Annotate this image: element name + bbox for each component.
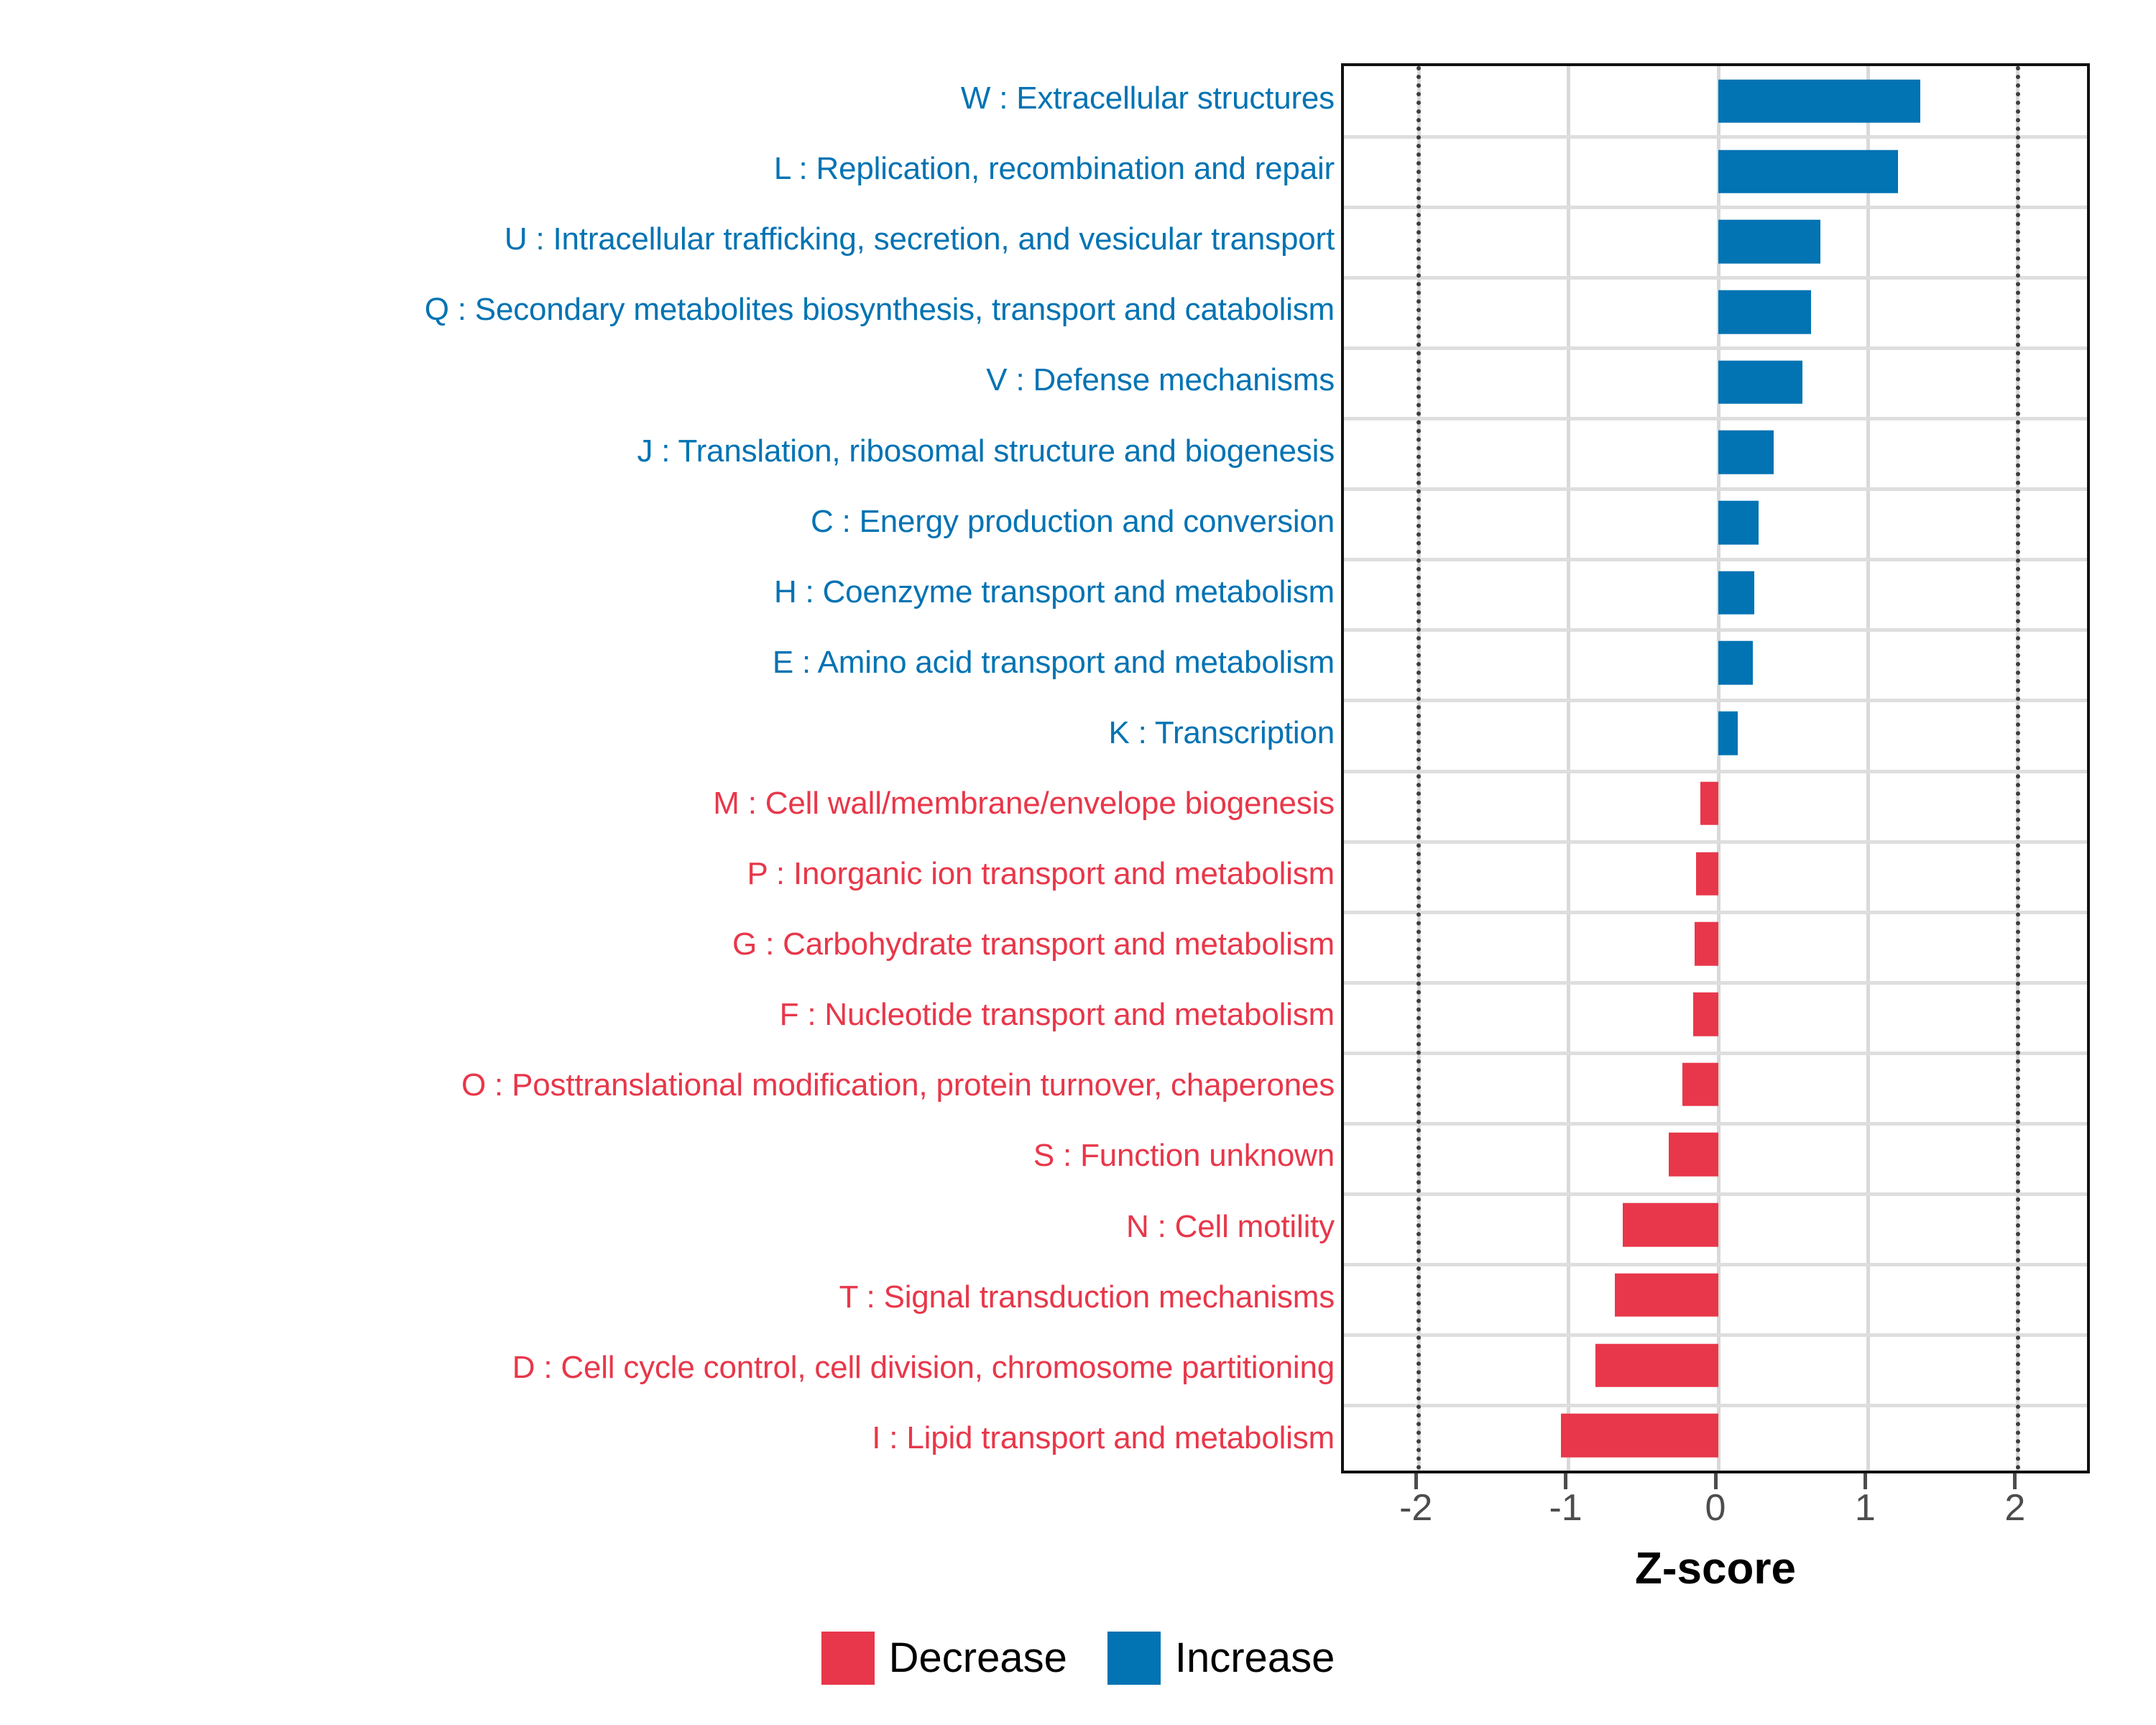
x-tick-label: -1	[1549, 1489, 1582, 1527]
x-tick-label: -2	[1399, 1489, 1432, 1527]
category-label-row: D : Cell cycle control, cell division, c…	[0, 1333, 1340, 1403]
bar-row	[1344, 1400, 2087, 1471]
bar-row	[1344, 768, 2087, 839]
bar-row	[1344, 418, 2087, 488]
category-label-row: W : Extracellular structures	[0, 63, 1340, 134]
category-label-row: P : Inorganic ion transport and metaboli…	[0, 839, 1340, 909]
bar	[1718, 571, 1754, 615]
category-label: L : Replication, recombination and repai…	[774, 153, 1340, 185]
bar	[1595, 1343, 1718, 1387]
x-tick-label: 0	[1705, 1489, 1726, 1527]
bar-row	[1344, 839, 2087, 909]
category-label: S : Function unknown	[1033, 1140, 1340, 1172]
category-label-row: H : Coenzyme transport and metabolism	[0, 557, 1340, 627]
bar	[1623, 1203, 1718, 1247]
bar	[1718, 290, 1811, 334]
category-label: I : Lipid transport and metabolism	[872, 1422, 1340, 1454]
bar	[1718, 431, 1774, 474]
category-label: V : Defense mechanisms	[986, 364, 1340, 396]
bar-row	[1344, 1120, 2087, 1190]
legend-item[interactable]: Increase	[1107, 1632, 1335, 1685]
category-label: W : Extracellular structures	[961, 83, 1340, 114]
x-axis-ticklabels: -2-1012	[1341, 1489, 2090, 1540]
chart-legend: DecreaseIncrease	[0, 1632, 2156, 1685]
bar	[1695, 922, 1718, 966]
x-axis-title: Z-score	[1341, 1547, 2090, 1591]
category-label-row: C : Energy production and conversion	[0, 487, 1340, 557]
bar-row	[1344, 277, 2087, 347]
category-label-row: U : Intracellular trafficking, secretion…	[0, 204, 1340, 275]
legend-item[interactable]: Decrease	[821, 1632, 1067, 1685]
category-label: P : Inorganic ion transport and metaboli…	[747, 858, 1340, 890]
category-label: F : Nucleotide transport and metabolism	[780, 999, 1340, 1031]
category-label: H : Coenzyme transport and metabolism	[774, 576, 1340, 608]
category-label: O : Posttranslational modification, prot…	[461, 1069, 1340, 1101]
category-label: D : Cell cycle control, cell division, c…	[512, 1352, 1340, 1384]
category-label-row: E : Amino acid transport and metabolism	[0, 627, 1340, 698]
plot-panel	[1341, 63, 2090, 1473]
category-label-row: K : Transcription	[0, 698, 1340, 768]
category-label-column: W : Extracellular structuresL : Replicat…	[0, 63, 1340, 1473]
bar-row	[1344, 1260, 2087, 1330]
legend-label: Increase	[1175, 1637, 1335, 1679]
category-label-row: G : Carbohydrate transport and metabolis…	[0, 909, 1340, 980]
bar	[1718, 641, 1753, 685]
bar-row	[1344, 558, 2087, 628]
bars-layer	[1344, 66, 2087, 1471]
category-label: M : Cell wall/membrane/envelope biogenes…	[713, 788, 1340, 819]
category-label: T : Signal transduction mechanisms	[839, 1282, 1340, 1313]
category-label: K : Transcription	[1108, 717, 1340, 749]
category-label-row: I : Lipid transport and metabolism	[0, 1403, 1340, 1473]
bar-row	[1344, 206, 2087, 277]
bar	[1669, 1133, 1718, 1177]
bar	[1718, 712, 1738, 755]
bar-row	[1344, 487, 2087, 558]
category-label: G : Carbohydrate transport and metabolis…	[732, 929, 1340, 960]
category-label-row: N : Cell motility	[0, 1192, 1340, 1262]
category-label-row: T : Signal transduction mechanisms	[0, 1262, 1340, 1333]
bar	[1693, 993, 1718, 1036]
x-tick-label: 1	[1855, 1489, 1876, 1527]
category-label-row: V : Defense mechanisms	[0, 345, 1340, 415]
cog-zscore-barchart: W : Extracellular structuresL : Replicat…	[0, 0, 2156, 1725]
category-label-row: S : Function unknown	[0, 1121, 1340, 1191]
bar	[1615, 1274, 1718, 1317]
category-label: Q : Secondary metabolites biosynthesis, …	[425, 294, 1340, 326]
bar-row	[1344, 347, 2087, 418]
bar-row	[1344, 66, 2087, 137]
bar-row	[1344, 628, 2087, 699]
legend-color-swatch	[1107, 1632, 1161, 1685]
category-label-row: L : Replication, recombination and repai…	[0, 134, 1340, 204]
bar-row	[1344, 1330, 2087, 1401]
category-label-row: J : Translation, ribosomal structure and…	[0, 415, 1340, 486]
bar-row	[1344, 698, 2087, 768]
bar	[1718, 149, 1898, 193]
category-label: N : Cell motility	[1126, 1211, 1340, 1243]
bar	[1561, 1414, 1718, 1458]
bar	[1682, 1062, 1718, 1106]
category-label: E : Amino acid transport and metabolism	[773, 647, 1340, 678]
bar-row	[1344, 1190, 2087, 1260]
legend-label: Decrease	[889, 1637, 1067, 1679]
bar	[1696, 852, 1718, 896]
bar-row	[1344, 1049, 2087, 1120]
x-tick-label: 2	[2004, 1489, 2025, 1527]
bar	[1718, 80, 1920, 124]
bar-row	[1344, 908, 2087, 979]
bar-row	[1344, 979, 2087, 1049]
legend-color-swatch	[821, 1632, 875, 1685]
category-label-row: F : Nucleotide transport and metabolism	[0, 980, 1340, 1050]
bar	[1718, 360, 1802, 404]
bar	[1718, 501, 1759, 545]
category-label-row: M : Cell wall/membrane/envelope biogenes…	[0, 768, 1340, 839]
category-label-row: O : Posttranslational modification, prot…	[0, 1050, 1340, 1121]
category-label: C : Energy production and conversion	[811, 506, 1340, 538]
category-label: U : Intracellular trafficking, secretion…	[505, 224, 1340, 255]
bar	[1700, 782, 1718, 826]
bar	[1718, 220, 1820, 264]
category-label-row: Q : Secondary metabolites biosynthesis, …	[0, 275, 1340, 345]
category-label: J : Translation, ribosomal structure and…	[637, 436, 1340, 467]
bar-row	[1344, 137, 2087, 207]
